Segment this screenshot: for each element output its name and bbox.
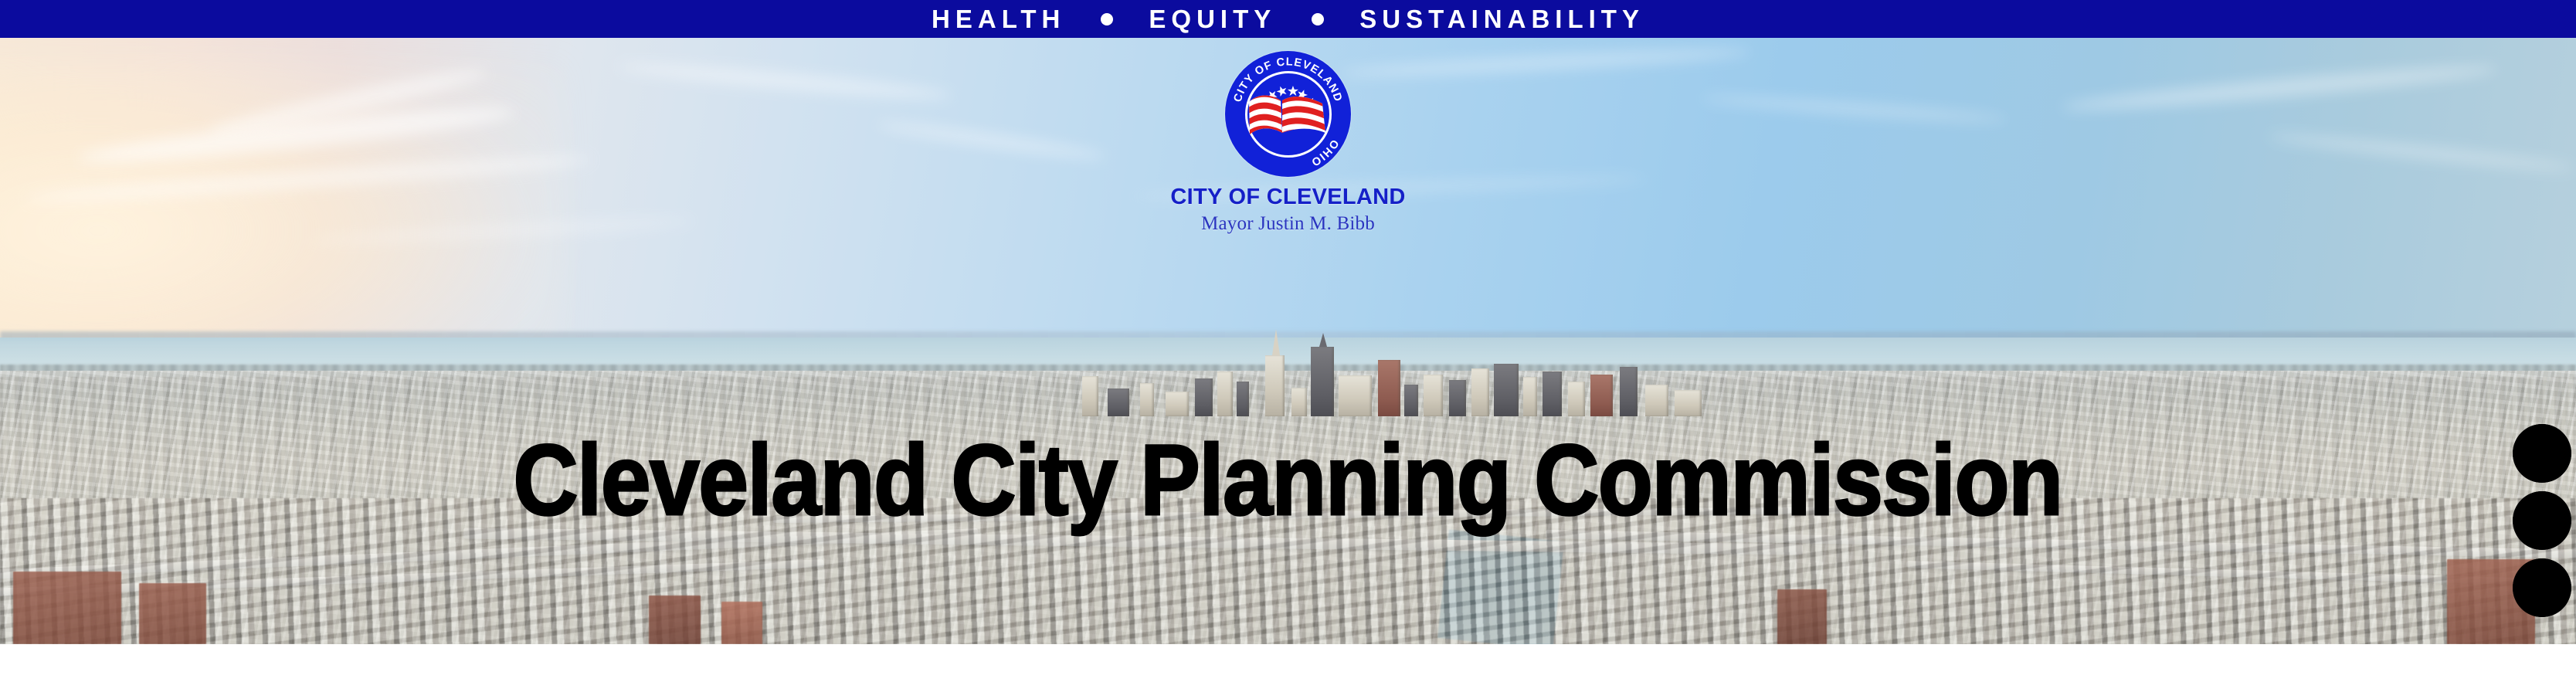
brick-building — [13, 572, 121, 644]
mayor-name-label: Mayor Justin M. Bibb — [1201, 214, 1375, 234]
social-links — [2513, 424, 2571, 617]
brick-building — [139, 583, 206, 644]
footer-whitespace — [0, 644, 2576, 682]
social-link-instagram[interactable] — [2513, 491, 2571, 550]
city-of-cleveland-seal: CITY OF CLEVELAND OHIO — [1225, 51, 1351, 177]
city-branding-lockup: CITY OF CLEVELAND OHIO — [1088, 51, 1489, 235]
foreground-neighborhood — [0, 498, 2576, 644]
social-link-youtube[interactable] — [2513, 424, 2571, 483]
brick-building — [1777, 589, 1826, 644]
city-name-label: CITY OF CLEVELAND — [1170, 185, 1405, 209]
instagram-icon — [2513, 491, 2571, 550]
tagline-bar: HEALTH EQUITY SUSTAINABILITY — [0, 0, 2576, 38]
bullet-dot-icon — [1101, 13, 1113, 25]
brick-building — [721, 602, 762, 644]
facebook-icon — [2513, 558, 2571, 617]
youtube-icon — [2513, 424, 2571, 483]
tagline-word-health: HEALTH — [932, 6, 1065, 32]
bullet-dot-icon — [1312, 13, 1324, 25]
waving-flag-icon — [1248, 87, 1329, 144]
tagline-word-equity: EQUITY — [1149, 6, 1276, 32]
brick-building — [649, 595, 701, 644]
social-link-facebook[interactable] — [2513, 558, 2571, 617]
tagline: HEALTH EQUITY SUSTAINABILITY — [932, 6, 1644, 32]
hero-photo: CITY OF CLEVELAND OHIO — [0, 37, 2576, 644]
downtown-skyline — [1069, 344, 1713, 416]
tagline-word-sustainability: SUSTAINABILITY — [1359, 6, 1644, 32]
